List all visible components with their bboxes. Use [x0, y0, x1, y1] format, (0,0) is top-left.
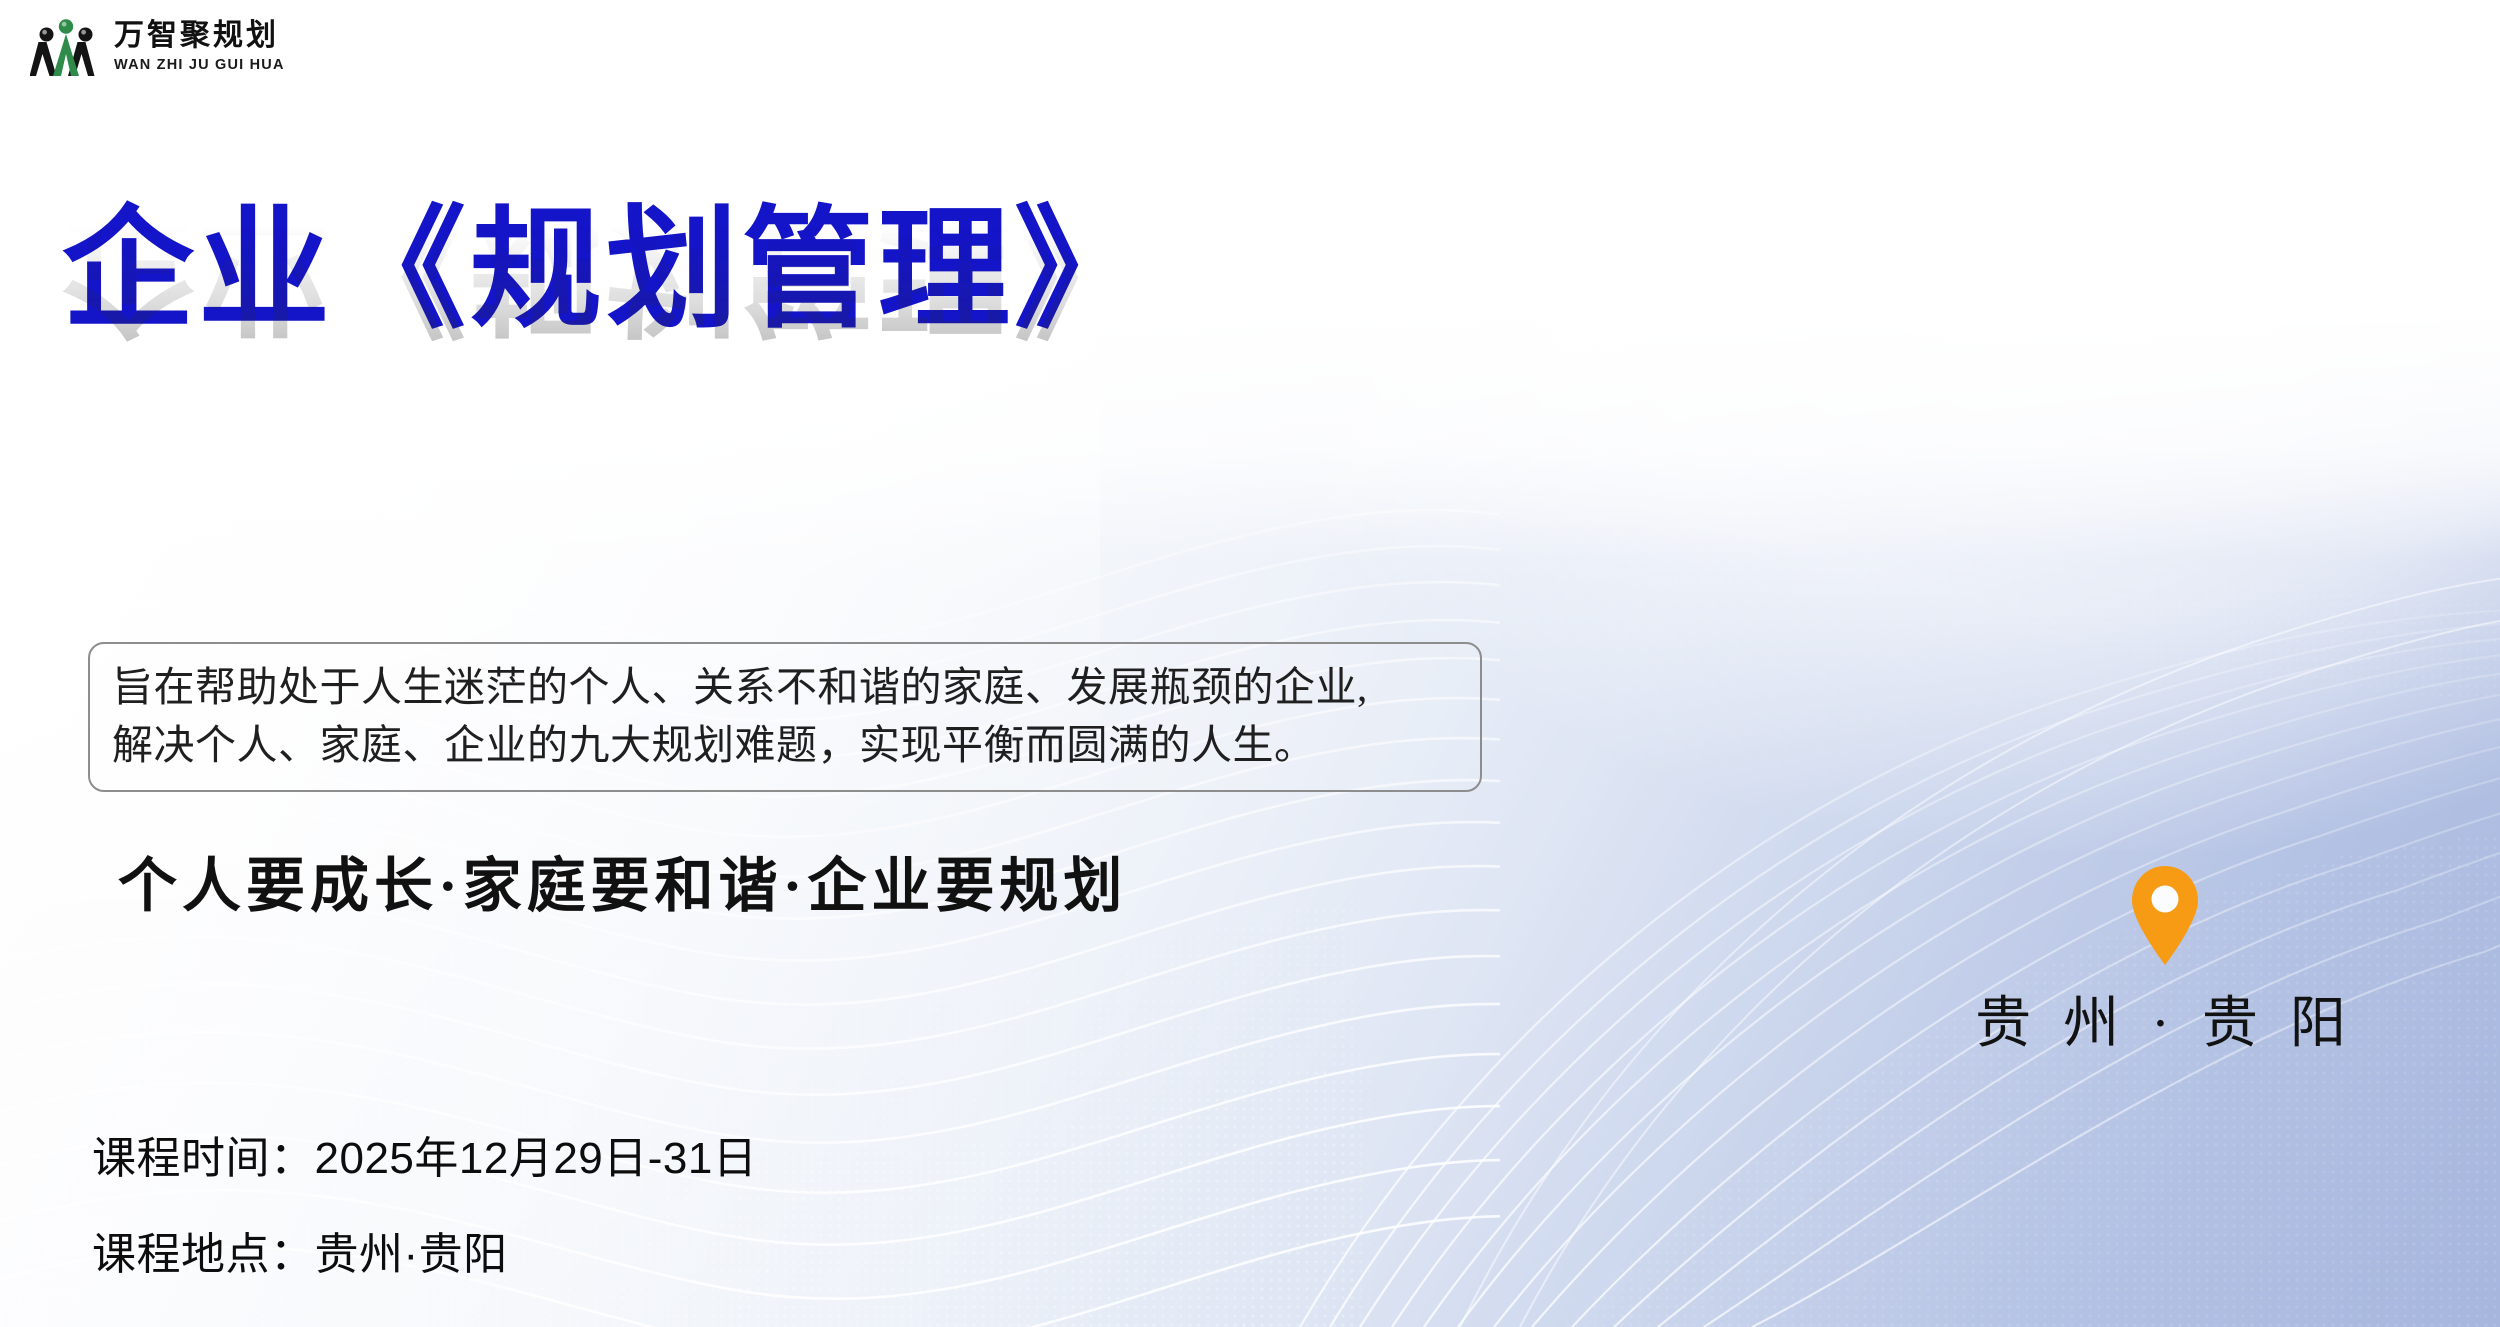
map-pin-icon [2126, 862, 2204, 966]
brand-logo: 万智聚规划 WAN ZHI JU GUI HUA [30, 14, 285, 80]
description-line-1: 旨在帮助处于人生迷茫的个人、关系不和谐的家庭、发展瓶颈的企业, [112, 658, 1458, 716]
course-place: 课程地点：贵州·贵阳 [92, 1218, 757, 1282]
brand-logo-text: 万智聚规划 WAN ZHI JU GUI HUA [114, 21, 285, 73]
course-time: 课程时间：2025年12月29日-31日 [92, 1122, 757, 1186]
location-city-label: 贵 州 · 贵 阳 [1975, 978, 2355, 1059]
three-people-logo-icon [30, 14, 102, 80]
description-box: 旨在帮助处于人生迷茫的个人、关系不和谐的家庭、发展瓶颈的企业, 解决个人、家庭、… [88, 642, 1482, 792]
brand-name-cn: 万智聚规划 [114, 21, 285, 51]
description-line-2: 解决个人、家庭、企业的九大规划难题，实现平衡而圆满的人生。 [112, 716, 1458, 774]
main-title-block: 企业《规划管理》 企业《规划管理》 [62, 196, 1150, 494]
location-badge: 贵 州 · 贵 阳 [1955, 862, 2375, 1059]
page-title: 企业《规划管理》 [62, 196, 1150, 344]
promotional-banner: 万智聚规划 WAN ZHI JU GUI HUA 企业《规划管理》 企业《规划管… [0, 0, 2500, 1327]
tagline: 个人要成长·家庭要和谐·企业要规划 [118, 838, 1127, 923]
course-info: 课程时间：2025年12月29日-31日 课程地点：贵州·贵阳 [92, 1122, 757, 1282]
brand-name-en: WAN ZHI JU GUI HUA [114, 58, 285, 73]
